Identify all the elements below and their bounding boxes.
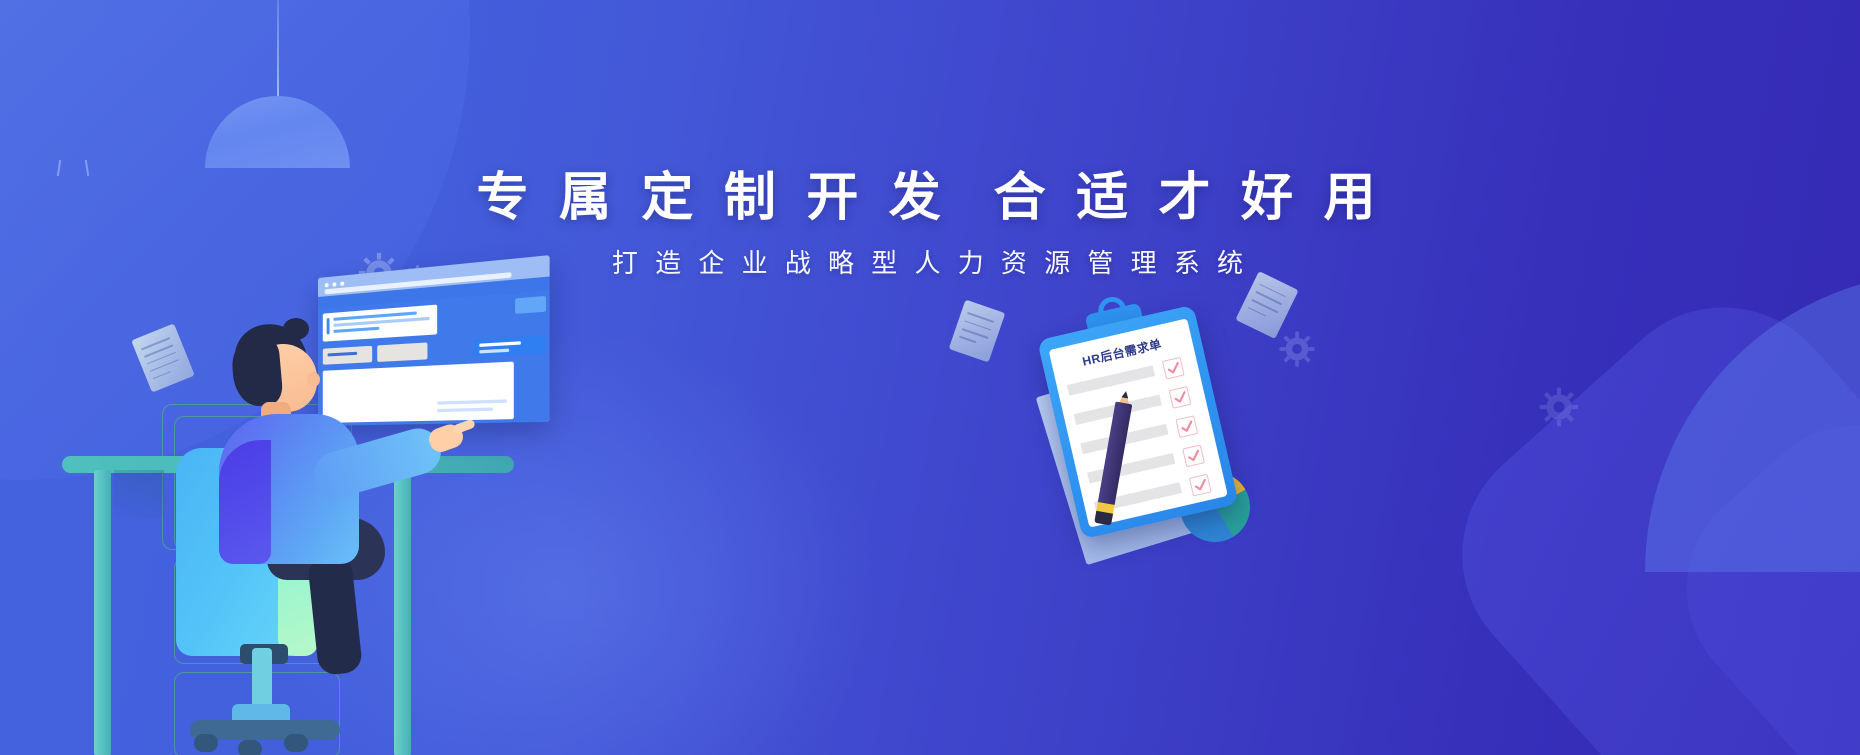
clipboard-row — [1087, 453, 1175, 484]
page-subtitle: 打 造 企 业 战 略 型 人 力 资 源 管 理 系 统 — [0, 247, 1860, 281]
hero-banner: 专 属 定 制 开 发 合 适 才 好 用 打 造 企 业 战 略 型 人 力 … — [0, 0, 1860, 755]
pendant-lamp-icon — [205, 0, 350, 160]
check-icon — [1162, 357, 1185, 380]
desk-shadow — [114, 470, 164, 518]
gear-icon — [1538, 386, 1580, 428]
person-hair-front — [230, 338, 284, 408]
lamp-cord — [277, 0, 279, 98]
hr-requirement-illustration: HR后台需求单 — [1000, 300, 1300, 630]
check-icon — [1189, 474, 1212, 497]
person-torso-shadow — [219, 440, 271, 564]
background-quarter-circle-right — [1645, 272, 1860, 572]
window-controls-dots — [325, 281, 344, 287]
screen-row-highlight — [474, 335, 546, 357]
chair-caster — [194, 734, 218, 752]
chair-caster — [238, 740, 262, 755]
check-icon — [1182, 444, 1205, 467]
check-icon — [1175, 415, 1198, 438]
desk-leg-left — [94, 470, 111, 755]
headline-block: 专 属 定 制 开 发 合 适 才 好 用 打 造 企 业 战 略 型 人 力 … — [0, 168, 1860, 281]
page-title: 专 属 定 制 开 发 合 适 才 好 用 — [0, 168, 1860, 229]
document-icon — [131, 323, 195, 392]
screen-tile — [515, 296, 546, 314]
background-rounded-diagonal — [1413, 258, 1860, 755]
person-illustration — [195, 318, 445, 658]
background-rounded-diagonal-secondary — [1641, 380, 1860, 755]
chair-caster — [284, 734, 308, 752]
person-ear — [307, 372, 320, 387]
check-icon — [1169, 386, 1192, 409]
document-icon — [949, 300, 1006, 363]
lamp-dome — [205, 96, 350, 168]
